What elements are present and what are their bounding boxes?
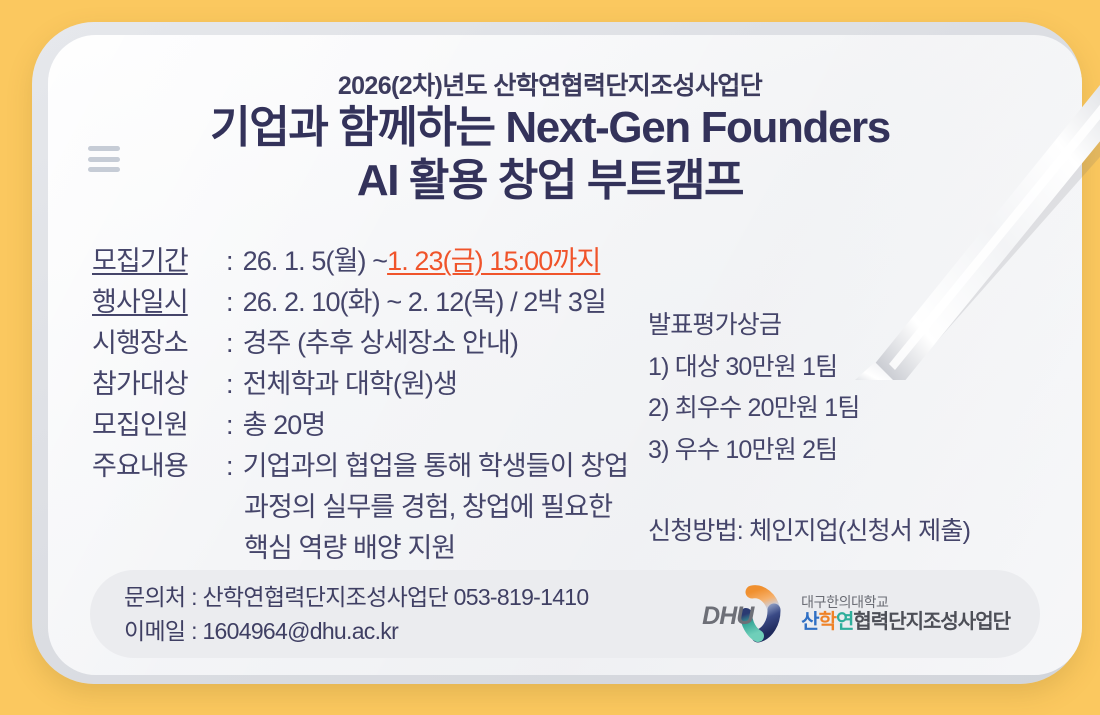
detail-value-plain: 26. 1. 5(월) ~: [243, 246, 387, 276]
detail-separator: :: [226, 282, 243, 323]
prize-item-3: 3) 우수 10만원 2팀: [648, 430, 1028, 472]
detail-row-venue: 시행장소 : 경주 (추후 상세장소 안내): [92, 323, 632, 364]
detail-row-audience: 참가대상 : 전체학과 대학(원)생: [92, 364, 632, 405]
detail-separator: :: [226, 241, 243, 282]
detail-value: 26. 2. 10(화) ~ 2. 12(목) / 2박 3일: [243, 282, 632, 323]
prize-item-1: 1) 대상 30만원 1팀: [648, 347, 1028, 389]
dhu-logo-mark-icon: DHU: [700, 584, 792, 644]
detail-label: 참가대상: [92, 364, 226, 405]
detail-separator: :: [226, 446, 243, 487]
detail-value-accent: 1. 23(금) 15:00까지: [387, 246, 600, 276]
eyebrow-text: 2026(2차)년도 산학연협력단지조성사업단: [0, 72, 1100, 101]
detail-row-event-date: 행사일시 : 26. 2. 10(화) ~ 2. 12(목) / 2박 3일: [92, 282, 632, 323]
dhu-wordmark: DHU: [702, 602, 753, 631]
detail-label: 모집기간: [92, 241, 226, 282]
detail-value: 총 20명: [243, 405, 632, 446]
footer-bar: 문의처 : 산학연협력단지조성사업단 053-819-1410 이메일 : 16…: [90, 570, 1040, 658]
spacer: [648, 471, 1028, 511]
detail-label: 모집인원: [92, 405, 226, 446]
detail-value: 기업과의 협업을 통해 학생들이 창업: [243, 446, 632, 487]
detail-row-recruit-period: 모집기간 : 26. 1. 5(월) ~1. 23(금) 15:00까지: [92, 241, 632, 282]
footer-email-line: 이메일 : 1604964@dhu.ac.kr: [124, 614, 700, 648]
detail-separator: :: [226, 323, 243, 364]
detail-separator: :: [226, 405, 243, 446]
dhu-logo: DHU 대구한의대학교 산학연협력단지조성사업단: [700, 584, 1040, 644]
dhu-org-rest: 협력단지조성사업단: [853, 611, 1010, 633]
footer-contact-block: 문의처 : 산학연협력단지조성사업단 053-819-1410 이메일 : 16…: [90, 580, 700, 648]
detail-value-tail: / 2박 3일: [503, 287, 606, 317]
dhu-university-name: 대구한의대학교: [801, 594, 1010, 610]
apply-method-line: 신청방법: 체인지업(신청서 제출): [648, 511, 1028, 553]
main-content-line-3: 핵심 역량 배양 지원: [92, 528, 632, 569]
detail-label: 행사일시: [92, 282, 226, 323]
footer-contact-line: 문의처 : 산학연협력단지조성사업단 053-819-1410: [124, 580, 700, 614]
prizes-heading: 발표평가상금: [648, 305, 1028, 347]
main-content-line-2: 과정의 실무를 경험, 창업에 필요한: [92, 487, 632, 528]
detail-value: 경주 (추후 상세장소 안내): [243, 323, 632, 364]
poster-canvas: 2026(2차)년도 산학연협력단지조성사업단 기업과 함께하는 Next-Ge…: [0, 0, 1100, 715]
prize-item-2: 2) 최우수 20만원 1팀: [648, 388, 1028, 430]
detail-label: 주요내용: [92, 446, 226, 487]
detail-value: 전체학과 대학(원)생: [243, 364, 632, 405]
dhu-org-name: 산학연협력단지조성사업단: [801, 611, 1010, 634]
poster-header: 2026(2차)년도 산학연협력단지조성사업단 기업과 함께하는 Next-Ge…: [0, 72, 1100, 208]
dhu-logo-text: 대구한의대학교 산학연협력단지조성사업단: [801, 594, 1010, 633]
detail-separator: :: [226, 364, 243, 405]
detail-value-underlined: 26. 2. 10(화) ~ 2. 12(목): [243, 287, 504, 317]
detail-label: 시행장소: [92, 323, 226, 364]
prizes-panel: 발표평가상금 1) 대상 30만원 1팀 2) 최우수 20만원 1팀 3) 우…: [648, 305, 1028, 553]
dhu-org-char-1: 산: [801, 611, 818, 633]
detail-row-headcount: 모집인원 : 총 20명: [92, 405, 632, 446]
dhu-org-char-2: 학: [819, 611, 836, 633]
detail-value: 26. 1. 5(월) ~1. 23(금) 15:00까지: [243, 241, 632, 282]
details-list: 모집기간 : 26. 1. 5(월) ~1. 23(금) 15:00까지 행사일…: [92, 241, 632, 569]
title-line-1: 기업과 함께하는 Next-Gen Founders: [0, 101, 1100, 155]
detail-row-main-content: 주요내용 : 기업과의 협업을 통해 학생들이 창업: [92, 446, 632, 487]
title-line-2: AI 활용 창업 부트캠프: [0, 154, 1100, 208]
dhu-org-char-3: 연: [836, 611, 853, 633]
